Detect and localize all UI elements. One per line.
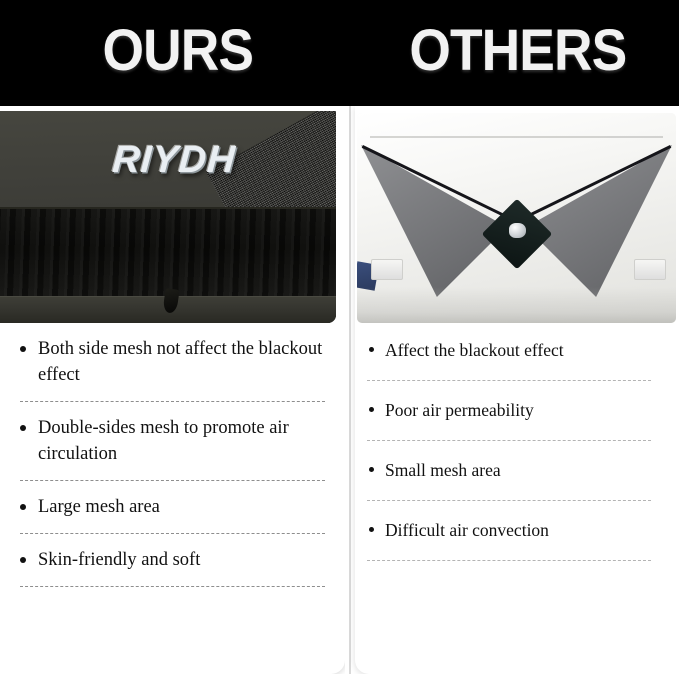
ours-product-photo: RIYDH — [0, 111, 336, 323]
ours-column: RIYDH Both side mesh not affect the blac… — [0, 106, 345, 674]
others-photo-tab-right — [634, 259, 666, 280]
list-item: Affect the blackout effect — [355, 338, 679, 363]
feature-text: Double-sides mesh to promote air circula… — [38, 415, 325, 467]
bullet-icon — [20, 425, 26, 431]
ours-feature-list: Both side mesh not affect the blackout e… — [0, 336, 345, 600]
feature-text: Skin-friendly and soft — [38, 547, 200, 573]
header-cell-ours: OURS — [0, 0, 356, 106]
feature-divider — [20, 586, 325, 587]
comparison-columns: RIYDH Both side mesh not affect the blac… — [0, 106, 679, 674]
others-photo-bottom-fold — [357, 287, 676, 323]
bullet-icon — [369, 407, 374, 412]
brand-logo-text: RIYDH — [87, 139, 260, 182]
bullet-icon — [369, 347, 374, 352]
list-item: Poor air permeability — [355, 398, 679, 423]
bullet-icon — [20, 557, 26, 563]
feature-divider — [20, 533, 325, 534]
list-item: Difficult air convection — [355, 518, 679, 543]
others-product-photo — [357, 113, 676, 323]
column-divider — [345, 106, 355, 674]
bullet-icon — [369, 467, 374, 472]
list-item: Both side mesh not affect the blackout e… — [0, 336, 345, 388]
bullet-icon — [20, 346, 26, 352]
list-item: Double-sides mesh to promote air circula… — [0, 415, 345, 467]
feature-text: Poor air permeability — [385, 398, 534, 423]
feature-divider — [20, 480, 325, 481]
feature-text: Large mesh area — [38, 494, 160, 520]
feature-text: Affect the blackout effect — [385, 338, 564, 363]
ours-title: OURS — [103, 22, 253, 84]
others-photo-tab-left — [371, 259, 403, 280]
others-photo-top-seam — [370, 136, 663, 138]
others-photo-hub-knob — [509, 223, 526, 238]
list-item: Skin-friendly and soft — [0, 547, 345, 573]
ours-photo-mesh-window — [0, 207, 336, 299]
feature-divider — [367, 440, 651, 441]
bullet-icon — [369, 527, 374, 532]
others-column: Affect the blackout effect Poor air perm… — [355, 106, 679, 674]
comparison-header: OURS OTHERS — [0, 0, 679, 106]
bullet-icon — [20, 504, 26, 510]
feature-divider — [367, 500, 651, 501]
feature-divider — [367, 560, 651, 561]
others-feature-list: Affect the blackout effect Poor air perm… — [355, 338, 679, 578]
feature-text: Small mesh area — [385, 458, 501, 483]
feature-text: Difficult air convection — [385, 518, 549, 543]
feature-divider — [367, 380, 651, 381]
list-item: Large mesh area — [0, 494, 345, 520]
others-title: OTHERS — [409, 22, 626, 84]
feature-text: Both side mesh not affect the blackout e… — [38, 336, 325, 388]
feature-divider — [20, 401, 325, 402]
list-item: Small mesh area — [355, 458, 679, 483]
header-cell-others: OTHERS — [356, 0, 679, 106]
